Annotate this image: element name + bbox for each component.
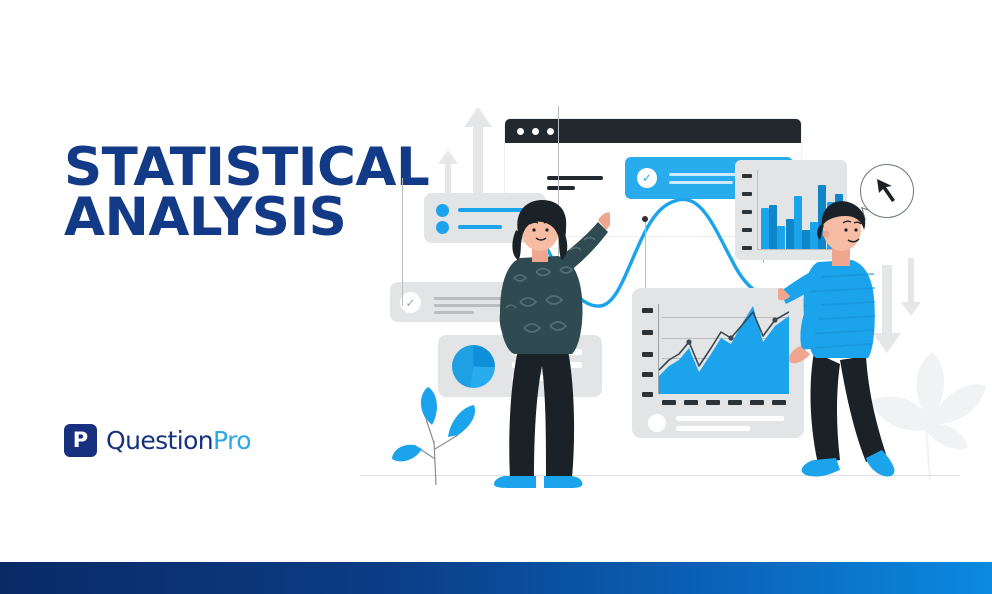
browser-titlebar	[505, 119, 801, 143]
arrow-up-large-icon	[463, 105, 493, 195]
area-y-tick-1	[642, 308, 653, 313]
footer-gradient-bar	[0, 562, 992, 594]
illustration: ✓ ✓	[360, 60, 992, 540]
check-card-line-3	[434, 311, 474, 314]
area-y-tick-2	[642, 330, 653, 335]
questionpro-logo[interactable]: P QuestionPro	[64, 424, 251, 457]
datapoint-dot-3	[642, 216, 648, 222]
browser-dot-2[interactable]	[532, 128, 539, 135]
area-y-tick-4	[642, 372, 653, 377]
area-x-tick-4	[728, 400, 742, 405]
bar-2	[769, 205, 777, 249]
logo-word-question: Question	[106, 426, 213, 455]
area-footer-avatar	[648, 414, 666, 432]
area-x-tick-2	[684, 400, 698, 405]
list-bullet-1	[436, 204, 449, 217]
bar-y-tick-5	[742, 246, 752, 250]
questionpro-logo-mark: P	[64, 424, 97, 457]
area-footer-line-1	[676, 416, 784, 421]
check-circle-icon: ✓	[400, 292, 421, 313]
logo-word-pro: Pro	[213, 426, 251, 455]
area-x-tick-5	[750, 400, 764, 405]
bar-y-tick-3	[742, 210, 752, 214]
area-chart-plot	[659, 304, 789, 394]
area-footer-line-2	[676, 426, 750, 431]
woman-analyst	[480, 200, 610, 490]
list-bullet-2	[436, 221, 449, 234]
area-y-tick-5	[642, 392, 653, 397]
area-x-tick-3	[706, 400, 720, 405]
plant-icon	[390, 385, 482, 485]
bar-y-axis	[757, 170, 758, 250]
browser-dot-1[interactable]	[517, 128, 524, 135]
man-presenter	[778, 200, 908, 490]
logo-wordmark: QuestionPro	[106, 426, 251, 455]
logo-p-glyph: P	[64, 424, 97, 457]
bar-y-tick-1	[742, 174, 752, 178]
area-y-tick-3	[642, 352, 653, 357]
datapoint-stem-1	[402, 178, 403, 306]
bar-y-tick-4	[742, 228, 752, 232]
bar-y-tick-2	[742, 192, 752, 196]
area-x-tick-1	[662, 400, 676, 405]
poster-canvas: STATISTICAL ANALYSIS P QuestionPro	[0, 0, 992, 594]
browser-dot-3[interactable]	[547, 128, 554, 135]
bar-1	[761, 208, 769, 249]
